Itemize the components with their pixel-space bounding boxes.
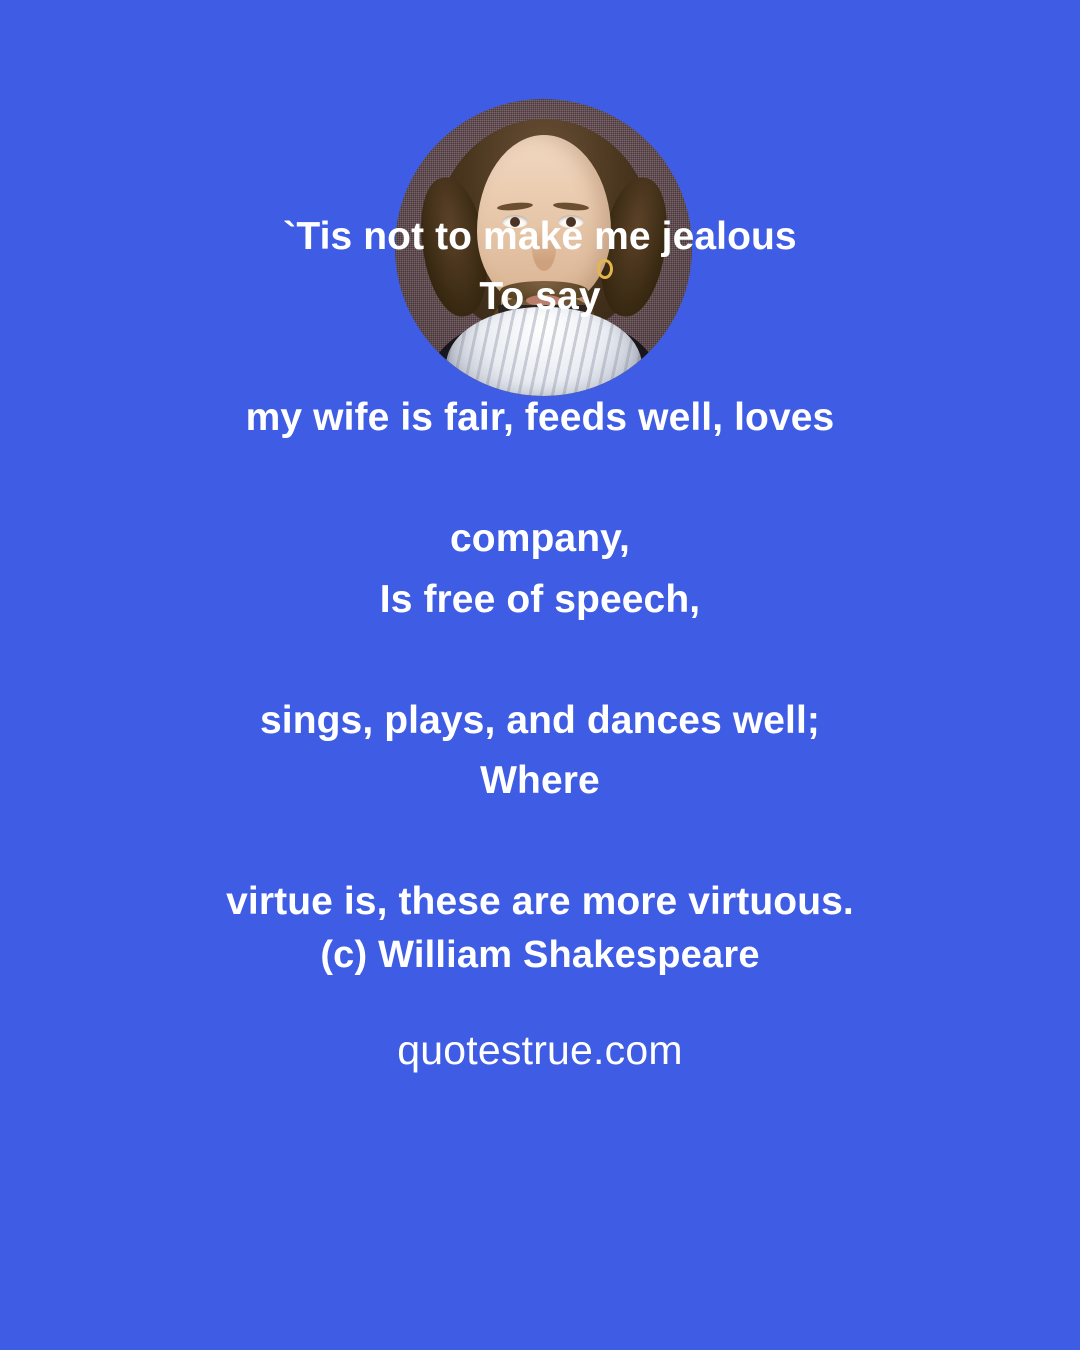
quote-attribution: (c) William Shakespeare bbox=[0, 934, 1080, 977]
quote-card: `Tis not to make me jealous To say my wi… bbox=[0, 0, 1080, 1350]
site-watermark: quotestrue.com bbox=[0, 1027, 1080, 1074]
quote-text: `Tis not to make me jealous To say my wi… bbox=[0, 207, 1080, 932]
